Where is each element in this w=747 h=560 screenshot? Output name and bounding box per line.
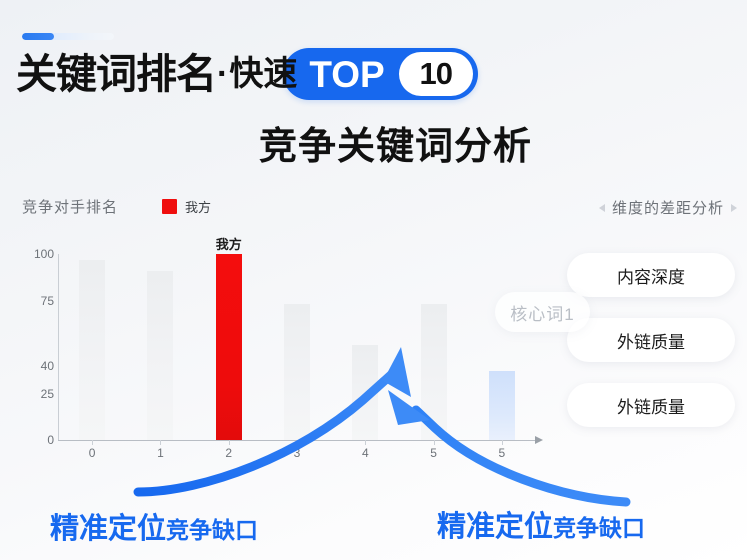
chart-header: 竞争对手排名 我方	[22, 196, 211, 217]
x-axis-tick: 0	[89, 446, 96, 460]
headline-separator-dot: ·	[217, 57, 228, 91]
y-axis-tick: 75	[18, 294, 54, 308]
dimension-card[interactable]: 外链质量	[567, 383, 735, 427]
dimension-card-label: 外链质量	[617, 393, 685, 418]
x-axis-tick: 4	[362, 446, 369, 460]
x-axis-tick: 3	[294, 446, 301, 460]
right-panel-header: 维度的差距分析	[599, 197, 737, 218]
x-axis-tick-mark	[434, 440, 435, 445]
y-axis-tick-labels: 1007540250	[18, 248, 54, 438]
caption-left-small: 竞争缺口	[166, 511, 258, 545]
caption-right: 精准定位 竞争缺口	[437, 503, 645, 545]
x-axis-tick: 1	[157, 446, 164, 460]
bar[interactable]	[421, 304, 447, 440]
progress-indicator	[22, 33, 114, 40]
caption-left-big: 精准定位	[50, 505, 166, 547]
legend-color-swatch-icon	[162, 199, 177, 214]
page-headline: 关键词排名 · 快速 TOP 10	[16, 47, 478, 101]
competitor-rank-bar-chart: 1007540250 01我方23455	[18, 248, 543, 463]
chart-legend-mine: 我方	[162, 197, 211, 216]
bar[interactable]	[284, 304, 310, 440]
bar[interactable]	[489, 371, 515, 440]
caption-left: 精准定位 竞争缺口	[50, 505, 258, 547]
legend-label: 我方	[185, 197, 211, 216]
bar-value-label: 我方	[216, 234, 242, 253]
x-axis-tick: 5	[430, 446, 437, 460]
chart-axis-title: 竞争对手排名	[22, 196, 118, 217]
top-pill-word: TOP	[309, 56, 398, 93]
x-axis-tick-mark	[229, 440, 230, 445]
top-rank-pill: TOP 10	[283, 48, 477, 100]
caption-right-big: 精准定位	[437, 503, 553, 545]
right-panel-title: 维度的差距分析	[612, 197, 724, 218]
dimension-card[interactable]: 外链质量	[567, 318, 735, 362]
y-axis-tick: 0	[18, 433, 54, 447]
y-axis-tick: 25	[18, 387, 54, 401]
dimension-card-label: 内容深度	[617, 263, 685, 288]
chevron-right-icon[interactable]	[731, 204, 737, 212]
bar[interactable]	[79, 260, 105, 440]
dimension-card-label: 外链质量	[617, 328, 685, 353]
headline-sub-text: 快速	[229, 57, 297, 91]
x-axis-tick-mark	[92, 440, 93, 445]
caption-right-small: 竞争缺口	[553, 509, 645, 543]
x-axis-tick-mark	[502, 440, 503, 445]
headline-main-text: 关键词排名	[16, 54, 216, 95]
y-axis-tick: 100	[18, 247, 54, 261]
dimension-card-list: 内容深度外链质量外链质量	[567, 253, 735, 427]
x-axis-tick-mark	[160, 440, 161, 445]
x-axis-tick: 5	[499, 446, 506, 460]
bar[interactable]	[216, 254, 242, 440]
bar[interactable]	[147, 271, 173, 440]
x-axis-tick-mark	[297, 440, 298, 445]
x-axis-arrow-icon	[535, 436, 543, 444]
y-axis-tick: 40	[18, 359, 54, 373]
top-rank-badge: 10	[399, 52, 473, 96]
progress-indicator-fill	[22, 33, 54, 40]
dimension-card[interactable]: 内容深度	[567, 253, 735, 297]
bar-series: 01我方23455	[58, 248, 536, 440]
chevron-left-icon[interactable]	[599, 204, 605, 212]
x-axis-tick-mark	[365, 440, 366, 445]
x-axis-tick: 2	[225, 446, 232, 460]
bar[interactable]	[352, 345, 378, 440]
page-subtitle: 竞争关键词分析	[0, 115, 747, 170]
